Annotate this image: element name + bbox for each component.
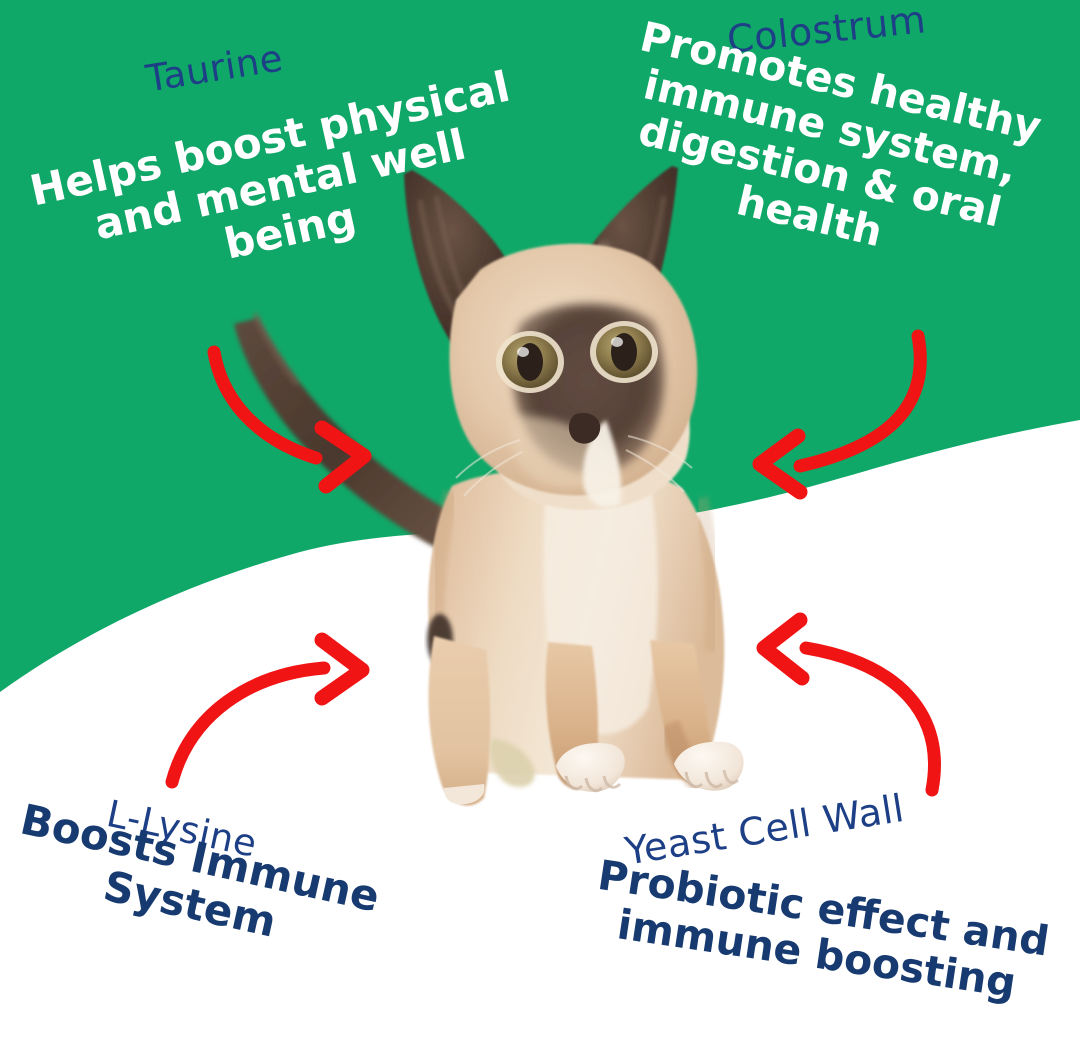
arrow-colostrum-icon [760,336,920,492]
infographic-canvas: Taurine Helps boost physical and mental … [0,0,1080,1052]
arrow-lysine-icon [172,640,362,782]
arrow-taurine-icon [214,352,364,486]
arrow-yeast-icon [764,620,934,790]
